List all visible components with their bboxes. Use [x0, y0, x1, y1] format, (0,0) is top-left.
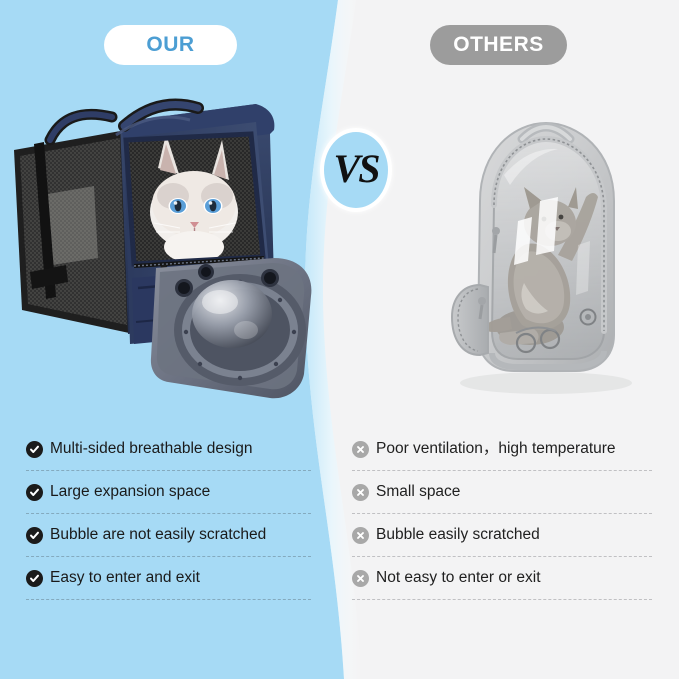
list-item: Bubble easily scratched	[352, 514, 652, 557]
list-item: Large expansion space	[26, 471, 311, 514]
cross-icon	[352, 441, 369, 458]
check-icon	[26, 527, 43, 544]
list-item-label: Small space	[376, 483, 460, 500]
list-item: Multi-sided breathable design	[26, 428, 311, 471]
check-icon	[26, 441, 43, 458]
list-item: Easy to enter and exit	[26, 557, 311, 600]
others-feature-list: Poor ventilation，high temperature Small …	[352, 428, 652, 600]
check-icon	[26, 484, 43, 501]
list-item: Bubble are not easily scratched	[26, 514, 311, 557]
our-product-image	[8, 82, 338, 412]
list-item-label: Poor ventilation，high temperature	[376, 440, 616, 457]
list-item-label: Not easy to enter or exit	[376, 569, 541, 586]
comparison-infographic: OUR OTHERS VS	[0, 0, 679, 679]
check-icon	[26, 570, 43, 587]
list-item: Small space	[352, 471, 652, 514]
vs-label: VS	[334, 149, 379, 189]
list-item-label: Easy to enter and exit	[50, 569, 200, 586]
others-label-pill: OTHERS	[430, 25, 567, 65]
cross-icon	[352, 527, 369, 544]
list-item-label: Bubble are not easily scratched	[50, 526, 266, 543]
cross-icon	[352, 570, 369, 587]
our-feature-list: Multi-sided breathable design Large expa…	[26, 428, 311, 600]
cross-icon	[352, 484, 369, 501]
list-item: Poor ventilation，high temperature	[352, 428, 652, 471]
our-label-pill: OUR	[104, 25, 237, 65]
list-item: Not easy to enter or exit	[352, 557, 652, 600]
list-item-label: Bubble easily scratched	[376, 526, 540, 543]
list-item-label: Large expansion space	[50, 483, 210, 500]
others-product-image	[418, 105, 668, 405]
vs-badge: VS	[320, 128, 392, 212]
list-item-label: Multi-sided breathable design	[50, 440, 252, 457]
